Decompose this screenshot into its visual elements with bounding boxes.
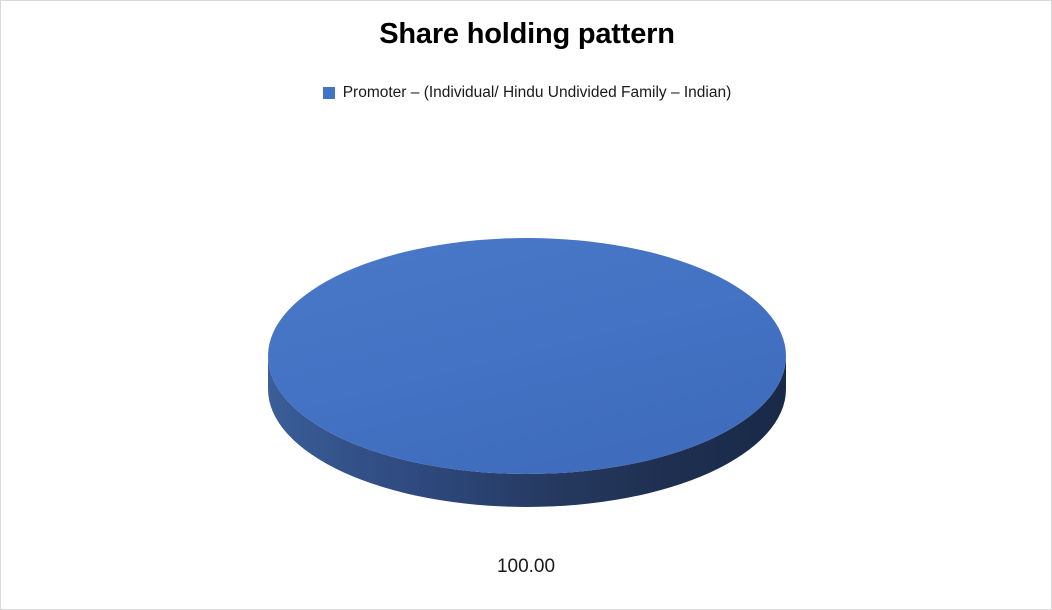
pie-chart-graphic <box>1 1 1052 610</box>
pie-plot-area <box>1 1 1052 610</box>
pie-slice-top-promoter[interactable] <box>268 238 786 474</box>
chart-container: Share holding pattern Promoter – (Indivi… <box>0 0 1052 610</box>
pie-data-label-text: 100.00 <box>497 557 555 576</box>
pie-data-label: 100.00 <box>1 557 1052 576</box>
